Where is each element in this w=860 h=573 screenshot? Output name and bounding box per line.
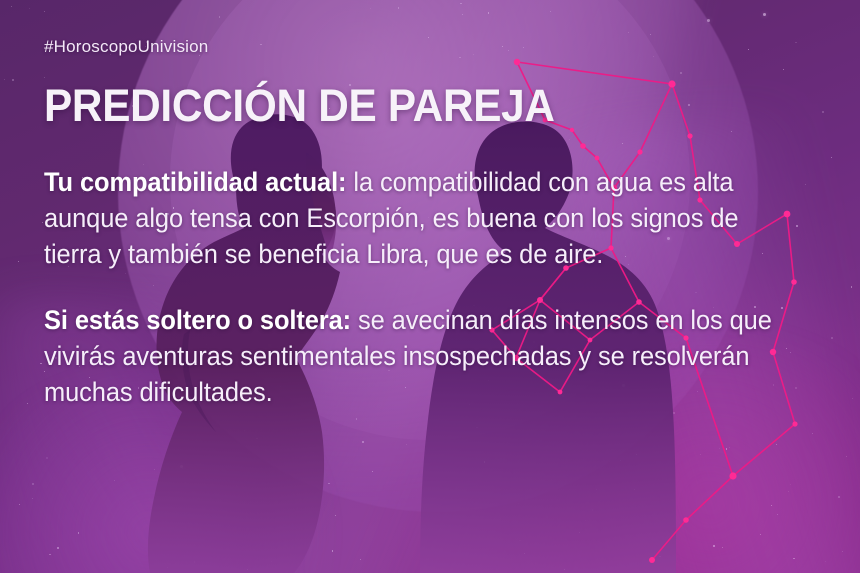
prediction-body: Tu compatibilidad actual: la compatibili… [44, 164, 820, 410]
hashtag-label: #HoroscopoUnivision [44, 38, 820, 55]
horoscope-card: #HoroscopoUnivision PREDICCIÓN DE PAREJA… [0, 0, 860, 573]
paragraph-single-lead: Si estás soltero o soltera: [44, 305, 351, 335]
paragraph-compatibility: Tu compatibilidad actual: la compatibili… [44, 164, 789, 272]
paragraph-single: Si estás soltero o soltera: se avecinan … [44, 302, 789, 410]
paragraph-compatibility-lead: Tu compatibilidad actual: [44, 167, 346, 197]
content: #HoroscopoUnivision PREDICCIÓN DE PAREJA… [0, 0, 860, 573]
page-title: PREDICCIÓN DE PAREJA [44, 83, 773, 128]
